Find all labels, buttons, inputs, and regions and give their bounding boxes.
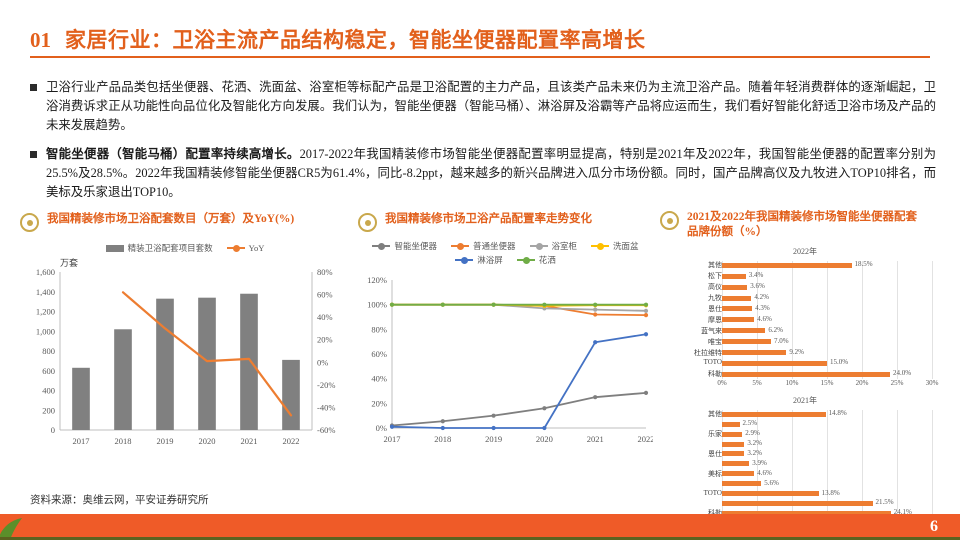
bullet-item: 卫浴行业产品品类包括坐便器、花洒、洗面盆、浴室柜等标配产品是卫浴配置的主力产品，… <box>30 78 936 136</box>
bar-value-label: 14.8% <box>829 409 847 417</box>
legend-item-line: YoY <box>227 243 265 253</box>
bar <box>722 481 761 486</box>
bar-category-label: 美标 <box>660 469 722 479</box>
svg-text:60%: 60% <box>371 349 387 359</box>
svg-text:2019: 2019 <box>485 434 502 444</box>
bar <box>722 451 744 456</box>
bar <box>722 274 746 279</box>
bar-value-label: 2.9% <box>745 429 760 437</box>
bar-value-label: 18.5% <box>855 260 873 268</box>
bar <box>722 285 747 290</box>
x-tick-label: 10% <box>786 379 799 387</box>
bar-value-label: 3.9% <box>752 459 767 467</box>
chart2-legend: 智能坐便器普通坐便器浴室柜洗面盆淋浴屏花洒 <box>358 240 653 266</box>
bar <box>722 471 754 476</box>
legend-item-2: 普通坐便器 <box>451 240 516 252</box>
svg-text:1,200: 1,200 <box>36 307 55 317</box>
legend-label: 普通坐便器 <box>473 240 516 252</box>
chart3b-subtitle: 2021年 <box>660 395 950 406</box>
chart2-plot: 0%20%40%60%80%100%120%201720182019202020… <box>358 270 653 455</box>
bullet-ring-icon <box>660 211 679 230</box>
bar-value-label: 6.2% <box>768 326 783 334</box>
svg-text:2017: 2017 <box>73 436 90 446</box>
chart3a-xaxis: 0%5%10%15%20%25%30% <box>722 379 932 389</box>
bar-row: 2.5% <box>660 420 950 429</box>
bar-value-label: 3.2% <box>747 449 762 457</box>
svg-text:2017: 2017 <box>384 434 401 444</box>
bullet-ring-icon <box>20 213 39 232</box>
legend-swatch-line <box>517 259 535 262</box>
svg-text:2020: 2020 <box>199 436 216 446</box>
bar <box>722 296 751 301</box>
bar-row: 唯宝7.0% <box>660 337 950 347</box>
chart2-svg: 0%20%40%60%80%100%120%201720182019202020… <box>358 270 653 455</box>
bar-category-label: 恩仕 <box>660 449 722 459</box>
legend-swatch-line <box>451 245 469 248</box>
bar-row: 5.6% <box>660 479 950 488</box>
chart1-plot: 万套 02004006008001,0001,2001,4001,600-60%… <box>20 258 350 458</box>
chart1-svg: 02004006008001,0001,2001,4001,600-60%-40… <box>20 258 350 458</box>
bar-value-label: 5.6% <box>764 479 779 487</box>
svg-text:-40%: -40% <box>317 402 335 412</box>
bar-row: 其他14.8% <box>660 410 950 419</box>
bar-row: 杜拉维特9.2% <box>660 348 950 358</box>
svg-text:0: 0 <box>51 425 55 435</box>
legend-item-4: 洗面盆 <box>591 240 639 252</box>
legend-item-1: 智能坐便器 <box>372 240 437 252</box>
svg-text:20%: 20% <box>317 335 333 345</box>
svg-text:120%: 120% <box>367 275 387 285</box>
bar-row: 高仪3.6% <box>660 283 950 293</box>
chart-panel-2: 我国精装修市场卫浴产品配置率走势变化 智能坐便器普通坐便器浴室柜洗面盆淋浴屏花洒… <box>358 212 653 455</box>
svg-text:2018: 2018 <box>115 436 132 446</box>
legend-item-5: 淋浴屏 <box>455 254 503 266</box>
bar <box>722 432 742 437</box>
chart2-title: 我国精装修市场卫浴产品配置率走势变化 <box>385 212 592 227</box>
bar-category-label: 高仪 <box>660 282 722 292</box>
x-tick-label: 30% <box>926 379 939 387</box>
bar-value-label: 2.5% <box>743 419 758 427</box>
bar-category-label: 九牧 <box>660 293 722 303</box>
bar-value-label: 15.0% <box>830 358 848 366</box>
bullet-item: 智能坐便器（智能马桶）配置率持续高增长。2017-2022年我国精装修市场智能坐… <box>30 145 936 203</box>
bar-row: 恩仕4.3% <box>660 304 950 314</box>
chart3b-bars: 其他14.8%2.5%乐家2.9%3.2%恩仕3.2%3.9%美标4.6%5.6… <box>660 410 950 515</box>
bar-category-label: TOTO <box>660 358 722 366</box>
bar-value-label: 3.4% <box>749 271 764 279</box>
svg-text:100%: 100% <box>367 300 387 310</box>
square-bullet-icon <box>30 151 37 158</box>
legend-swatch-bar <box>106 245 124 252</box>
chart1-title: 我国精装修市场卫浴配套数目（万套）及YoY(%) <box>47 212 294 227</box>
legend-swatch-line <box>455 259 473 262</box>
bar-value-label: 4.6% <box>757 315 772 323</box>
legend-item-3: 浴室柜 <box>530 240 578 252</box>
bar-row: 乐家2.9% <box>660 430 950 439</box>
bar-row: TOTO15.0% <box>660 359 950 369</box>
bar <box>722 442 744 447</box>
bar-category-label: 唯宝 <box>660 337 722 347</box>
legend-label: 花洒 <box>539 254 556 266</box>
bullet-ring-icon <box>358 213 377 232</box>
bullet-lead: 智能坐便器（智能马桶）配置率持续高增长。 <box>46 147 300 161</box>
bar-value-label: 21.5% <box>876 498 894 506</box>
bar-value-label: 4.2% <box>754 293 769 301</box>
svg-text:40%: 40% <box>317 312 333 322</box>
bar-row: 蓝气来6.2% <box>660 326 950 336</box>
svg-text:0%: 0% <box>376 423 387 433</box>
legend-item-6: 花洒 <box>517 254 556 266</box>
bar-value-label: 24.0% <box>893 369 911 377</box>
chart-panel-3: 2021及2022年我国精装修市场智能坐便器配套品牌份额（%） 2022年 其他… <box>660 210 950 525</box>
body-bullets: 卫浴行业产品品类包括坐便器、花洒、洗面盆、浴室柜等标配产品是卫浴配置的主力产品，… <box>30 78 936 211</box>
page-number: 6 <box>930 518 938 536</box>
legend-swatch-line <box>227 247 245 250</box>
legend-swatch-line <box>530 245 548 248</box>
legend-swatch-line <box>591 245 609 248</box>
bar <box>722 361 827 366</box>
legend-label: 精装卫浴配套项目套数 <box>128 242 213 254</box>
legend-label: 智能坐便器 <box>394 240 437 252</box>
svg-text:60%: 60% <box>317 290 333 300</box>
svg-text:800: 800 <box>42 346 55 356</box>
bar <box>722 328 765 333</box>
bar <box>722 339 771 344</box>
svg-text:2021: 2021 <box>587 434 604 444</box>
svg-text:600: 600 <box>42 366 55 376</box>
bar <box>722 501 873 506</box>
bar-value-label: 4.6% <box>757 469 772 477</box>
svg-text:-60%: -60% <box>317 425 335 435</box>
bar <box>722 317 754 322</box>
bar-category-label: 乐家 <box>660 429 722 439</box>
slide-title-block: 01 家居行业：卫浴主流产品结构稳定，智能坐便器配置率高增长 <box>30 24 930 54</box>
slide-root: 01 家居行业：卫浴主流产品结构稳定，智能坐便器配置率高增长 卫浴行业产品品类包… <box>0 0 960 540</box>
x-tick-label: 20% <box>856 379 869 387</box>
x-tick-label: 5% <box>752 379 761 387</box>
chart3-title: 2021及2022年我国精装修市场智能坐便器配套品牌份额（%） <box>687 210 922 240</box>
x-tick-label: 15% <box>821 379 834 387</box>
svg-text:-20%: -20% <box>317 380 335 390</box>
svg-text:2021: 2021 <box>241 436 258 446</box>
chart2-header: 我国精装修市场卫浴产品配置率走势变化 <box>358 212 653 232</box>
bar <box>722 263 852 268</box>
square-bullet-icon <box>30 84 37 91</box>
bar <box>722 412 826 417</box>
bar-row: 其他18.5% <box>660 261 950 271</box>
bar-row: TOTO13.8% <box>660 489 950 498</box>
bar-value-label: 7.0% <box>774 337 789 345</box>
chart3a-subtitle: 2022年 <box>660 246 950 257</box>
bullet-text: 卫浴行业产品品类包括坐便器、花洒、洗面盆、浴室柜等标配产品是卫浴配置的主力产品，… <box>46 78 936 136</box>
legend-label: YoY <box>249 243 265 253</box>
bar-category-label: 科勒 <box>660 369 722 379</box>
bullet-text: 智能坐便器（智能马桶）配置率持续高增长。2017-2022年我国精装修市场智能坐… <box>46 145 936 203</box>
bar-row: 九牧4.2% <box>660 294 950 304</box>
bar-value-label: 3.6% <box>750 282 765 290</box>
bar <box>722 372 890 377</box>
bar-category-label: 其他 <box>660 260 722 270</box>
bar <box>722 461 749 466</box>
chart3a-bars: 其他18.5%松下3.4%高仪3.6%九牧4.2%恩仕4.3%摩恩4.6%蓝气来… <box>660 261 950 379</box>
bar-category-label: 松下 <box>660 271 722 281</box>
bar-row: 恩仕3.2% <box>660 449 950 458</box>
chart1-header: 我国精装修市场卫浴配套数目（万套）及YoY(%) <box>20 212 350 232</box>
svg-text:2019: 2019 <box>157 436 174 446</box>
svg-text:2022: 2022 <box>283 436 300 446</box>
bar-category-label: 其他 <box>660 409 722 419</box>
svg-text:20%: 20% <box>371 398 387 408</box>
bar-category-label: 恩仕 <box>660 304 722 314</box>
page-title: 家居行业：卫浴主流产品结构稳定，智能坐便器配置率高增长 <box>65 28 646 52</box>
x-tick-label: 0% <box>717 379 726 387</box>
legend-label: 淋浴屏 <box>477 254 503 266</box>
bar <box>722 491 819 496</box>
bar-category-label: 杜拉维特 <box>660 348 722 358</box>
bar-value-label: 9.2% <box>789 348 804 356</box>
chart-panel-1: 我国精装修市场卫浴配套数目（万套）及YoY(%) 精装卫浴配套项目套数 YoY … <box>20 212 350 458</box>
svg-text:2018: 2018 <box>434 434 451 444</box>
svg-text:80%: 80% <box>317 267 333 277</box>
bar-value-label: 3.2% <box>747 439 762 447</box>
svg-text:2020: 2020 <box>536 434 553 444</box>
svg-text:1,600: 1,600 <box>36 267 55 277</box>
bar-row: 摩恩4.6% <box>660 315 950 325</box>
legend-label: 浴室柜 <box>552 240 578 252</box>
bar-category-label: 蓝气来 <box>660 326 722 336</box>
bar-category-label: TOTO <box>660 489 722 497</box>
svg-text:1,000: 1,000 <box>36 326 55 336</box>
bar <box>722 350 786 355</box>
bar <box>722 422 740 427</box>
bar-row: 21.5% <box>660 499 950 508</box>
bar <box>722 306 752 311</box>
legend-item-bars: 精装卫浴配套项目套数 <box>106 242 213 254</box>
bar-value-label: 4.3% <box>755 304 770 312</box>
bar-row: 美标4.6% <box>660 469 950 478</box>
legend-swatch-line <box>372 245 390 248</box>
bar-row: 3.9% <box>660 459 950 468</box>
bar-row: 3.2% <box>660 440 950 449</box>
chart1-legend: 精装卫浴配套项目套数 YoY <box>20 242 350 254</box>
svg-text:400: 400 <box>42 386 55 396</box>
svg-text:0%: 0% <box>317 357 328 367</box>
chart3-header: 2021及2022年我国精装修市场智能坐便器配套品牌份额（%） <box>660 210 950 240</box>
svg-text:2022: 2022 <box>638 434 654 444</box>
svg-text:1,400: 1,400 <box>36 287 55 297</box>
legend-label: 洗面盆 <box>613 240 639 252</box>
svg-text:40%: 40% <box>371 374 387 384</box>
bar-row: 松下3.4% <box>660 272 950 282</box>
svg-text:80%: 80% <box>371 324 387 334</box>
x-tick-label: 25% <box>891 379 904 387</box>
title-underline <box>30 56 930 58</box>
bar-category-label: 摩恩 <box>660 315 722 325</box>
section-number: 01 <box>30 28 51 52</box>
bar-value-label: 13.8% <box>822 489 840 497</box>
svg-text:200: 200 <box>42 405 55 415</box>
source-note: 资料来源：奥维云网，平安证券研究所 <box>30 492 209 507</box>
